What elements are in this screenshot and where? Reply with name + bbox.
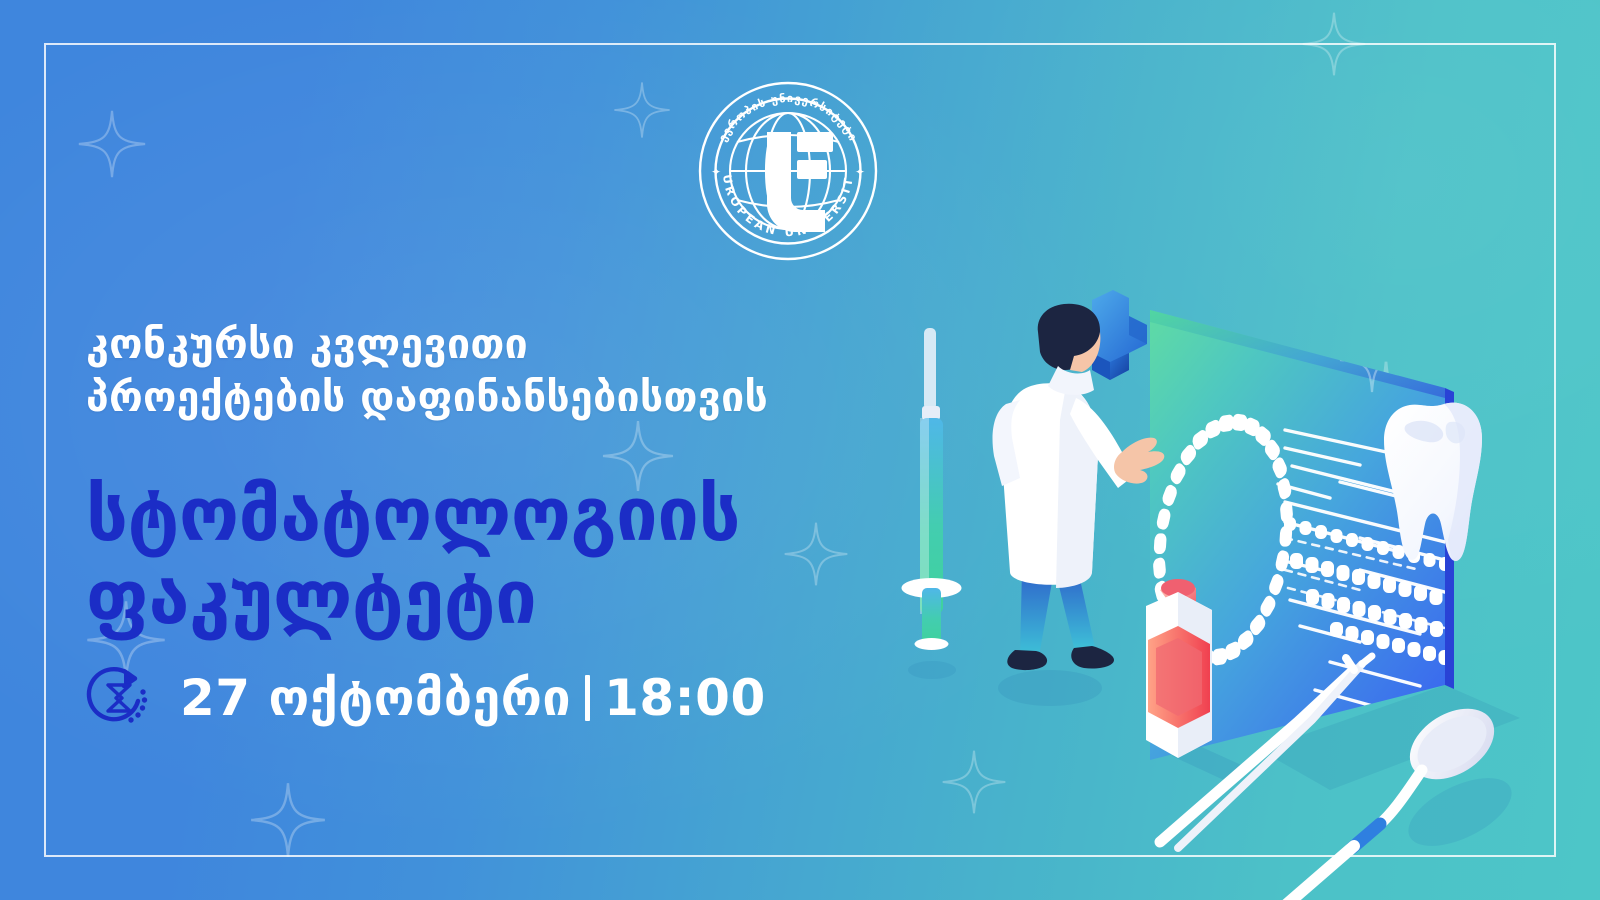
mirror-handle: [1264, 846, 1354, 900]
chart-tooth-cell: [1454, 654, 1467, 669]
chart-tooth-cell: [1408, 642, 1421, 657]
dentist-figure: [993, 304, 1165, 706]
decorative-sparkle-icon: [1300, 10, 1368, 78]
page-title: სტომატოლოგიის ფაკულტეტი: [86, 477, 966, 638]
arch-tooth: [1153, 533, 1166, 554]
chart-tooth-cell: [1461, 597, 1474, 613]
dental-isometric-scene: [860, 270, 1560, 870]
chart-tooth-cell: [1290, 553, 1303, 569]
hourglass-clock-icon: [86, 665, 152, 731]
event-time: 18:00: [604, 669, 766, 727]
chart-tooth-cell: [1337, 565, 1350, 581]
dentist-collar: [1048, 366, 1094, 395]
chart-tooth-cell: [1393, 545, 1405, 559]
kicker-text: კონკურსი კვლევითი პროექტების დაფინანსები…: [86, 318, 966, 425]
chart-tooth-cell: [1321, 561, 1334, 577]
chart-tooth-cell: [1399, 581, 1412, 597]
decorative-sparkle-icon: [248, 780, 328, 860]
decorative-sparkle-icon: [76, 108, 148, 180]
copy-block: კონკურსი კვლევითი პროექტების დაფინანსები…: [86, 318, 966, 638]
dentist-shoe-back: [1007, 650, 1047, 670]
chart-tooth-cell: [1331, 529, 1343, 543]
dentist-shoe-front: [1071, 646, 1114, 669]
chart-tooth-cell: [1423, 646, 1436, 661]
chart-tooth-cell: [1368, 605, 1381, 621]
event-separator: [585, 675, 590, 721]
event-date: 27 ოქტომბერი: [180, 669, 571, 727]
chart-tooth-cell: [1384, 609, 1397, 625]
kicker-line-2: პროექტების დაფინანსებისთვის: [86, 371, 966, 424]
chart-tooth-cell: [1346, 533, 1358, 547]
chart-tooth-cell: [1377, 541, 1389, 555]
chart-tooth-cell: [1414, 585, 1427, 601]
syringe: [902, 328, 962, 679]
chart-tooth-cell: [1322, 593, 1335, 609]
chart-tooth-cell: [1315, 525, 1327, 539]
chart-tooth-cell: [1392, 638, 1405, 653]
chart-tooth-cell: [1430, 621, 1443, 637]
poster-root: ევროპის უნივერსიტეტი EUROPEAN UNIVERSITY…: [0, 0, 1600, 900]
chart-tooth-cell: [1330, 622, 1343, 637]
event-datetime-text: 27 ოქტომბერი 18:00: [180, 669, 766, 727]
chart-tooth-cell: [1306, 557, 1319, 573]
chart-tooth-cell: [1300, 521, 1312, 535]
kicker-line-1: კონკურსი კვლევითი: [86, 320, 528, 368]
chart-tooth-cell: [1424, 553, 1436, 567]
chart-tooth-cell: [1352, 569, 1365, 585]
decorative-sparkle-icon: [612, 80, 672, 140]
chart-tooth-cell: [1461, 629, 1474, 645]
logo-star-right: ✦: [855, 165, 865, 179]
chart-tooth-cell: [1415, 617, 1428, 633]
chart-tooth-cell: [1353, 601, 1366, 617]
logo-star-left: ✦: [711, 165, 721, 179]
chart-tooth-cell: [1399, 613, 1412, 629]
chart-tooth-cell: [1337, 597, 1350, 613]
chart-tooth-cell: [1368, 573, 1381, 589]
chart-tooth-cell: [1361, 630, 1374, 645]
chart-tooth-cell: [1284, 517, 1296, 531]
headline-line-1: სტომატოლოგიის: [86, 472, 740, 558]
chart-tooth-cell: [1377, 634, 1390, 649]
chart-tooth-cell: [1383, 577, 1396, 593]
chart-tooth-cell: [1306, 589, 1319, 605]
chart-tooth-cell: [1430, 589, 1443, 605]
chart-tooth-cell: [1346, 626, 1359, 641]
headline-line-2: ფაკულტეტი: [86, 560, 966, 638]
event-datetime-row: 27 ოქტომბერი 18:00: [86, 665, 766, 731]
european-university-logo: ევროპის უნივერსიტეტი EUROPEAN UNIVERSITY…: [697, 80, 879, 262]
chart-tooth-cell: [1362, 537, 1374, 551]
